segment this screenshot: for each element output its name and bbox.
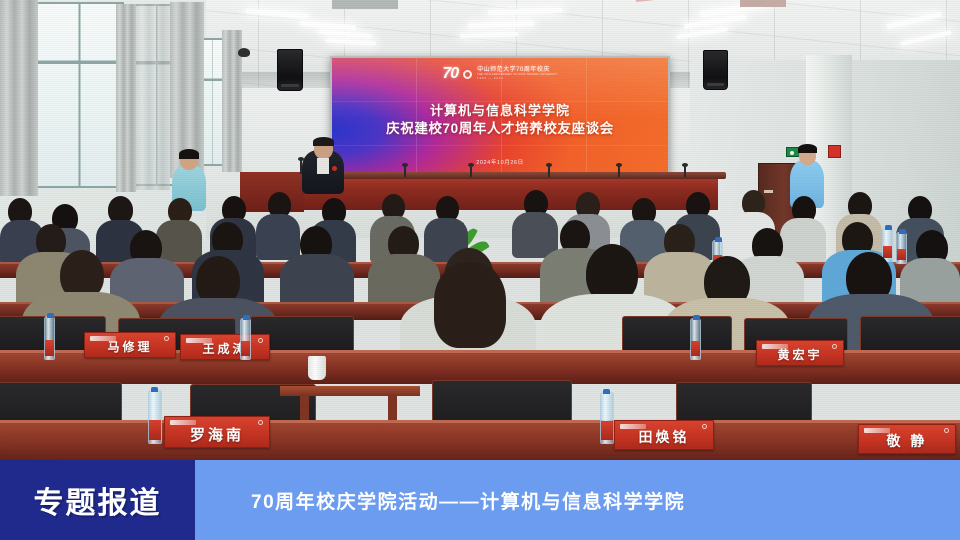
presenter-hair [313,137,334,146]
bottle-cap [151,387,158,392]
water-bottle [690,318,701,360]
bottle-label [149,420,161,440]
window-pane [36,2,124,188]
window-curtain [0,0,38,196]
name-card-text: 敬 静 [887,431,928,453]
microphone [548,166,550,177]
bottle-label [691,341,700,356]
bottle-cap [715,237,722,242]
name-card: 马修理 [84,332,176,358]
wall-speaker [703,50,728,90]
microphone [684,166,686,177]
water-bottle [896,232,907,264]
bottle-cap [693,315,700,320]
name-card-logo [864,428,890,433]
presenter-badge [332,166,337,171]
banner-tag-block: 专题报道 [0,460,195,540]
attendee-long-hair [434,262,506,348]
name-card-seal-icon [258,338,263,343]
name-card-seal-icon [702,424,707,429]
security-camera-icon [238,48,250,57]
name-card-logo [90,336,116,341]
name-card-seal-icon [944,428,949,433]
attendee-body [256,214,300,260]
name-card-logo [186,338,212,343]
door-knob [764,190,773,193]
water-bottle [600,392,614,444]
name-card-seal-icon [164,336,169,341]
name-card-logo [762,344,788,349]
fire-alarm-icon [828,145,841,158]
banner-headline: 70周年校庆学院活动——计算机与信息科学学院 [195,487,685,514]
banner-tag-label: 专题报道 [34,478,162,522]
bottle-label [897,249,906,260]
name-card: 王成涛 [180,334,270,360]
standing-attendee-hair [179,149,199,159]
water-bottle [882,228,893,262]
bottle-label [241,341,250,356]
microphone [404,166,406,177]
name-card: 黄宏宇 [756,340,844,366]
name-card-logo [620,424,646,429]
bottle-cap [47,313,54,318]
bottle-cap [603,389,610,394]
bottle-cap [899,229,906,234]
conference-room-photo: 70 中山师范大学70周年校庆 THE 70TH ANNIVERSARY OF … [0,0,960,540]
attendee-body [156,220,202,264]
bottle-label [45,340,54,356]
banner-headline-block: 70周年校庆学院活动——计算机与信息科学学院 [195,460,960,540]
window-curtain [116,4,136,192]
standing-attendee-hair [798,144,817,153]
bottle-cap [885,225,892,230]
microphone [618,166,620,177]
name-card-text: 罗海南 [190,424,244,447]
microphone [470,166,472,177]
name-card: 敬 静 [858,424,956,454]
screenshot-stage: 70 中山师范大学70周年校庆 THE 70TH ANNIVERSARY OF … [0,0,960,540]
name-card: 田焕铭 [614,420,714,450]
name-card-text: 田焕铭 [639,427,690,449]
name-card-seal-icon [258,420,263,425]
water-bottle [44,316,55,360]
name-card-seal-icon [832,344,837,349]
water-bottle [240,318,251,360]
name-card-logo [170,420,196,425]
paper-cup [308,356,326,380]
window-curtain [136,4,170,190]
water-bottle [148,390,162,444]
bottle-cap [243,315,250,320]
ceiling-vent [332,0,398,9]
wall-speaker [277,49,303,91]
bottle-label [883,246,892,258]
name-card: 罗海南 [164,416,270,448]
presenter-shirt [317,158,329,174]
lower-third-banner: 专题报道 70周年校庆学院活动——计算机与信息科学学院 [0,460,960,540]
ceiling-vent [740,0,786,7]
bottle-label [601,421,613,440]
